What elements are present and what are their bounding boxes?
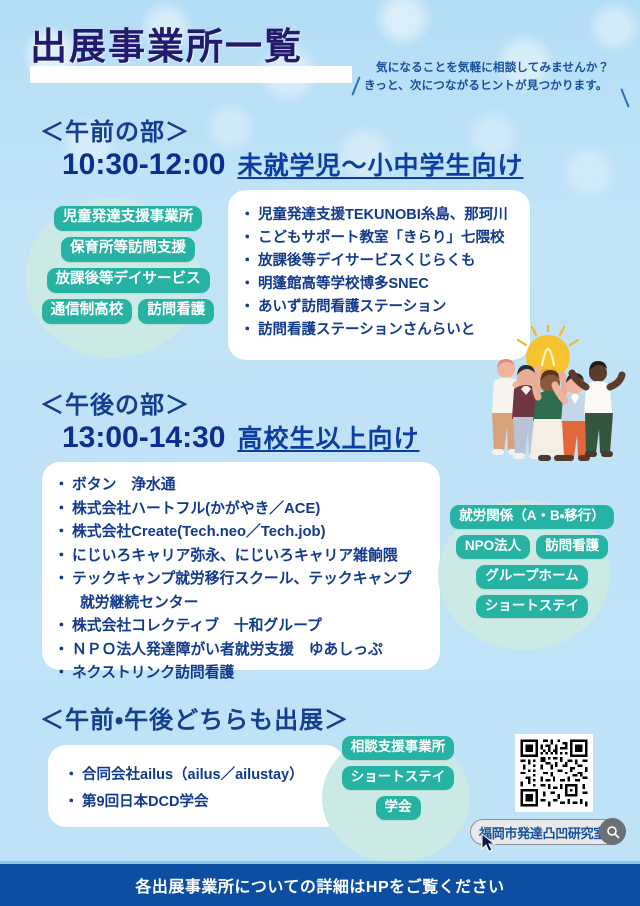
afternoon-section-label: ＜午後の部＞ — [40, 385, 190, 420]
morning-exhibitor-list: 児童発達支援TEKUNOBI糸島、那珂川 こどもサポート教室「きらり」七隈校 放… — [228, 190, 530, 342]
list-item-continuation: 就労継続センター — [56, 592, 440, 616]
tag-jido-hattatsu[interactable]: 児童発達支援事業所 — [54, 206, 203, 231]
afternoon-time: 13:00-14:30 — [62, 421, 225, 455]
list-item: 株式会社ハートフル(かがやき／ACE) — [56, 498, 440, 522]
list-item: 第9回日本DCD学会 — [66, 789, 344, 816]
list-item: 株式会社Create(Tech.neo／Tech.job) — [56, 521, 440, 545]
tag-short-stay[interactable]: ショートステイ — [342, 766, 455, 790]
tag-short-stay-pm[interactable]: ショートステイ — [476, 595, 589, 619]
list-item: こどもサポート教室「きらり」七隈校 — [242, 227, 530, 250]
list-item: ネクストリンク訪問看護 — [56, 662, 440, 686]
list-item: 合同会社ailus（ailus／ailustay） — [66, 762, 344, 789]
footer-bar: 各出展事業所についての詳細はHPをご覧ください — [0, 864, 640, 906]
morning-time-row: 10:30-12:00 未就学児～小中学生向け — [62, 146, 523, 182]
qr-code[interactable] — [515, 734, 593, 812]
afternoon-exhibitor-card: ボタン 浄水通 株式会社ハートフル(かがやき／ACE) 株式会社Create(T… — [42, 462, 440, 670]
search-query-text: 福岡市発達凸凹研究室 — [479, 823, 606, 842]
tag-homon-kango-pm[interactable]: 訪問看護 — [536, 535, 608, 559]
tag-gakkai[interactable]: 学会 — [376, 796, 421, 820]
magnifier-glyph — [606, 825, 620, 839]
morning-time: 10:30-12:00 — [62, 148, 225, 182]
tag-houkago-day[interactable]: 放課後等デイサービス — [47, 268, 210, 293]
both-tag-list: 相談支援事業所 ショートステイ 学会 — [330, 736, 466, 820]
morning-tag-list: 児童発達支援事業所 保育所等訪問支援 放課後等デイサービス 通信制高校 訪問看護 — [38, 206, 218, 324]
afternoon-target: 高校生以上向け — [237, 419, 419, 455]
afternoon-time-row: 13:00-14:30 高校生以上向け — [62, 419, 419, 455]
both-section-label: ＜午前・午後どちらも出展＞ — [40, 700, 349, 735]
tagline-line-2: きっと、次につながるヒントが見つかります。 — [364, 78, 626, 96]
list-item: あいず訪問看護ステーション — [242, 296, 530, 319]
morning-target: 未就学児～小中学生向け — [237, 146, 523, 182]
list-item: 放課後等デイサービスくじらくも — [242, 250, 530, 273]
search-icon[interactable] — [599, 818, 626, 845]
afternoon-exhibitor-list: ボタン 浄水通 株式会社ハートフル(かがやき／ACE) 株式会社Create(T… — [42, 462, 440, 686]
list-item: テックキャンプ就労移行スクール、テックキャンプ — [56, 568, 440, 592]
both-exhibitor-list: 合同会社ailus（ailus／ailustay） 第9回日本DCD学会 — [48, 745, 344, 816]
afternoon-tag-list: 就労関係（A・B・移行） NPO法人 訪問看護 グループホーム ショートステイ — [432, 505, 632, 618]
tagline: 気になることを気軽に相談してみませんか？ きっと、次につながるヒントが見つかりま… — [358, 60, 626, 96]
title-highlight-bar — [30, 66, 352, 83]
page-title: 出展事業所一覧 — [30, 28, 360, 65]
list-item: ボタン 浄水通 — [56, 474, 440, 498]
poster-canvas: 出展事業所一覧 気になることを気軽に相談してみませんか？ きっと、次につながるヒ… — [0, 0, 640, 906]
tag-sodan-shien[interactable]: 相談支援事業所 — [342, 736, 455, 760]
list-item: ＮＰＯ法人発達障がい者就労支援 ゆあしっぷ — [56, 639, 440, 663]
footer-text: 各出展事業所についての詳細はHPをご覧ください — [135, 873, 504, 897]
tag-npo-hojin[interactable]: NPO法人 — [456, 535, 530, 559]
list-item: にじいろキャリア弥永、にじいろキャリア雑餉隈 — [56, 545, 440, 569]
tagline-line-1: 気になることを気軽に相談してみませんか？ — [376, 60, 626, 78]
list-item: 児童発達支援TEKUNOBI糸島、那珂川 — [242, 204, 530, 227]
tag-hoikusho-homon[interactable]: 保育所等訪問支援 — [61, 237, 195, 262]
list-item: 明蓬館高等学校博多SNEC — [242, 273, 530, 296]
both-exhibitor-card: 合同会社ailus（ailus／ailustay） 第9回日本DCD学会 — [48, 745, 344, 827]
tag-shuro-kankei[interactable]: 就労関係（A・B・移行） — [450, 505, 614, 529]
tag-homon-kango[interactable]: 訪問看護 — [138, 299, 214, 324]
tag-tsushinsei-koko[interactable]: 通信制高校 — [42, 299, 133, 324]
tag-group-home[interactable]: グループホーム — [476, 565, 587, 589]
people-with-lightbulb-illustration — [470, 325, 636, 465]
poster-title-block: 出展事業所一覧 — [30, 28, 360, 84]
list-item: 株式会社コレクティブ 十和グループ — [56, 615, 440, 639]
mouse-cursor-icon — [481, 833, 497, 853]
morning-section-label: ＜午前の部＞ — [40, 112, 190, 147]
